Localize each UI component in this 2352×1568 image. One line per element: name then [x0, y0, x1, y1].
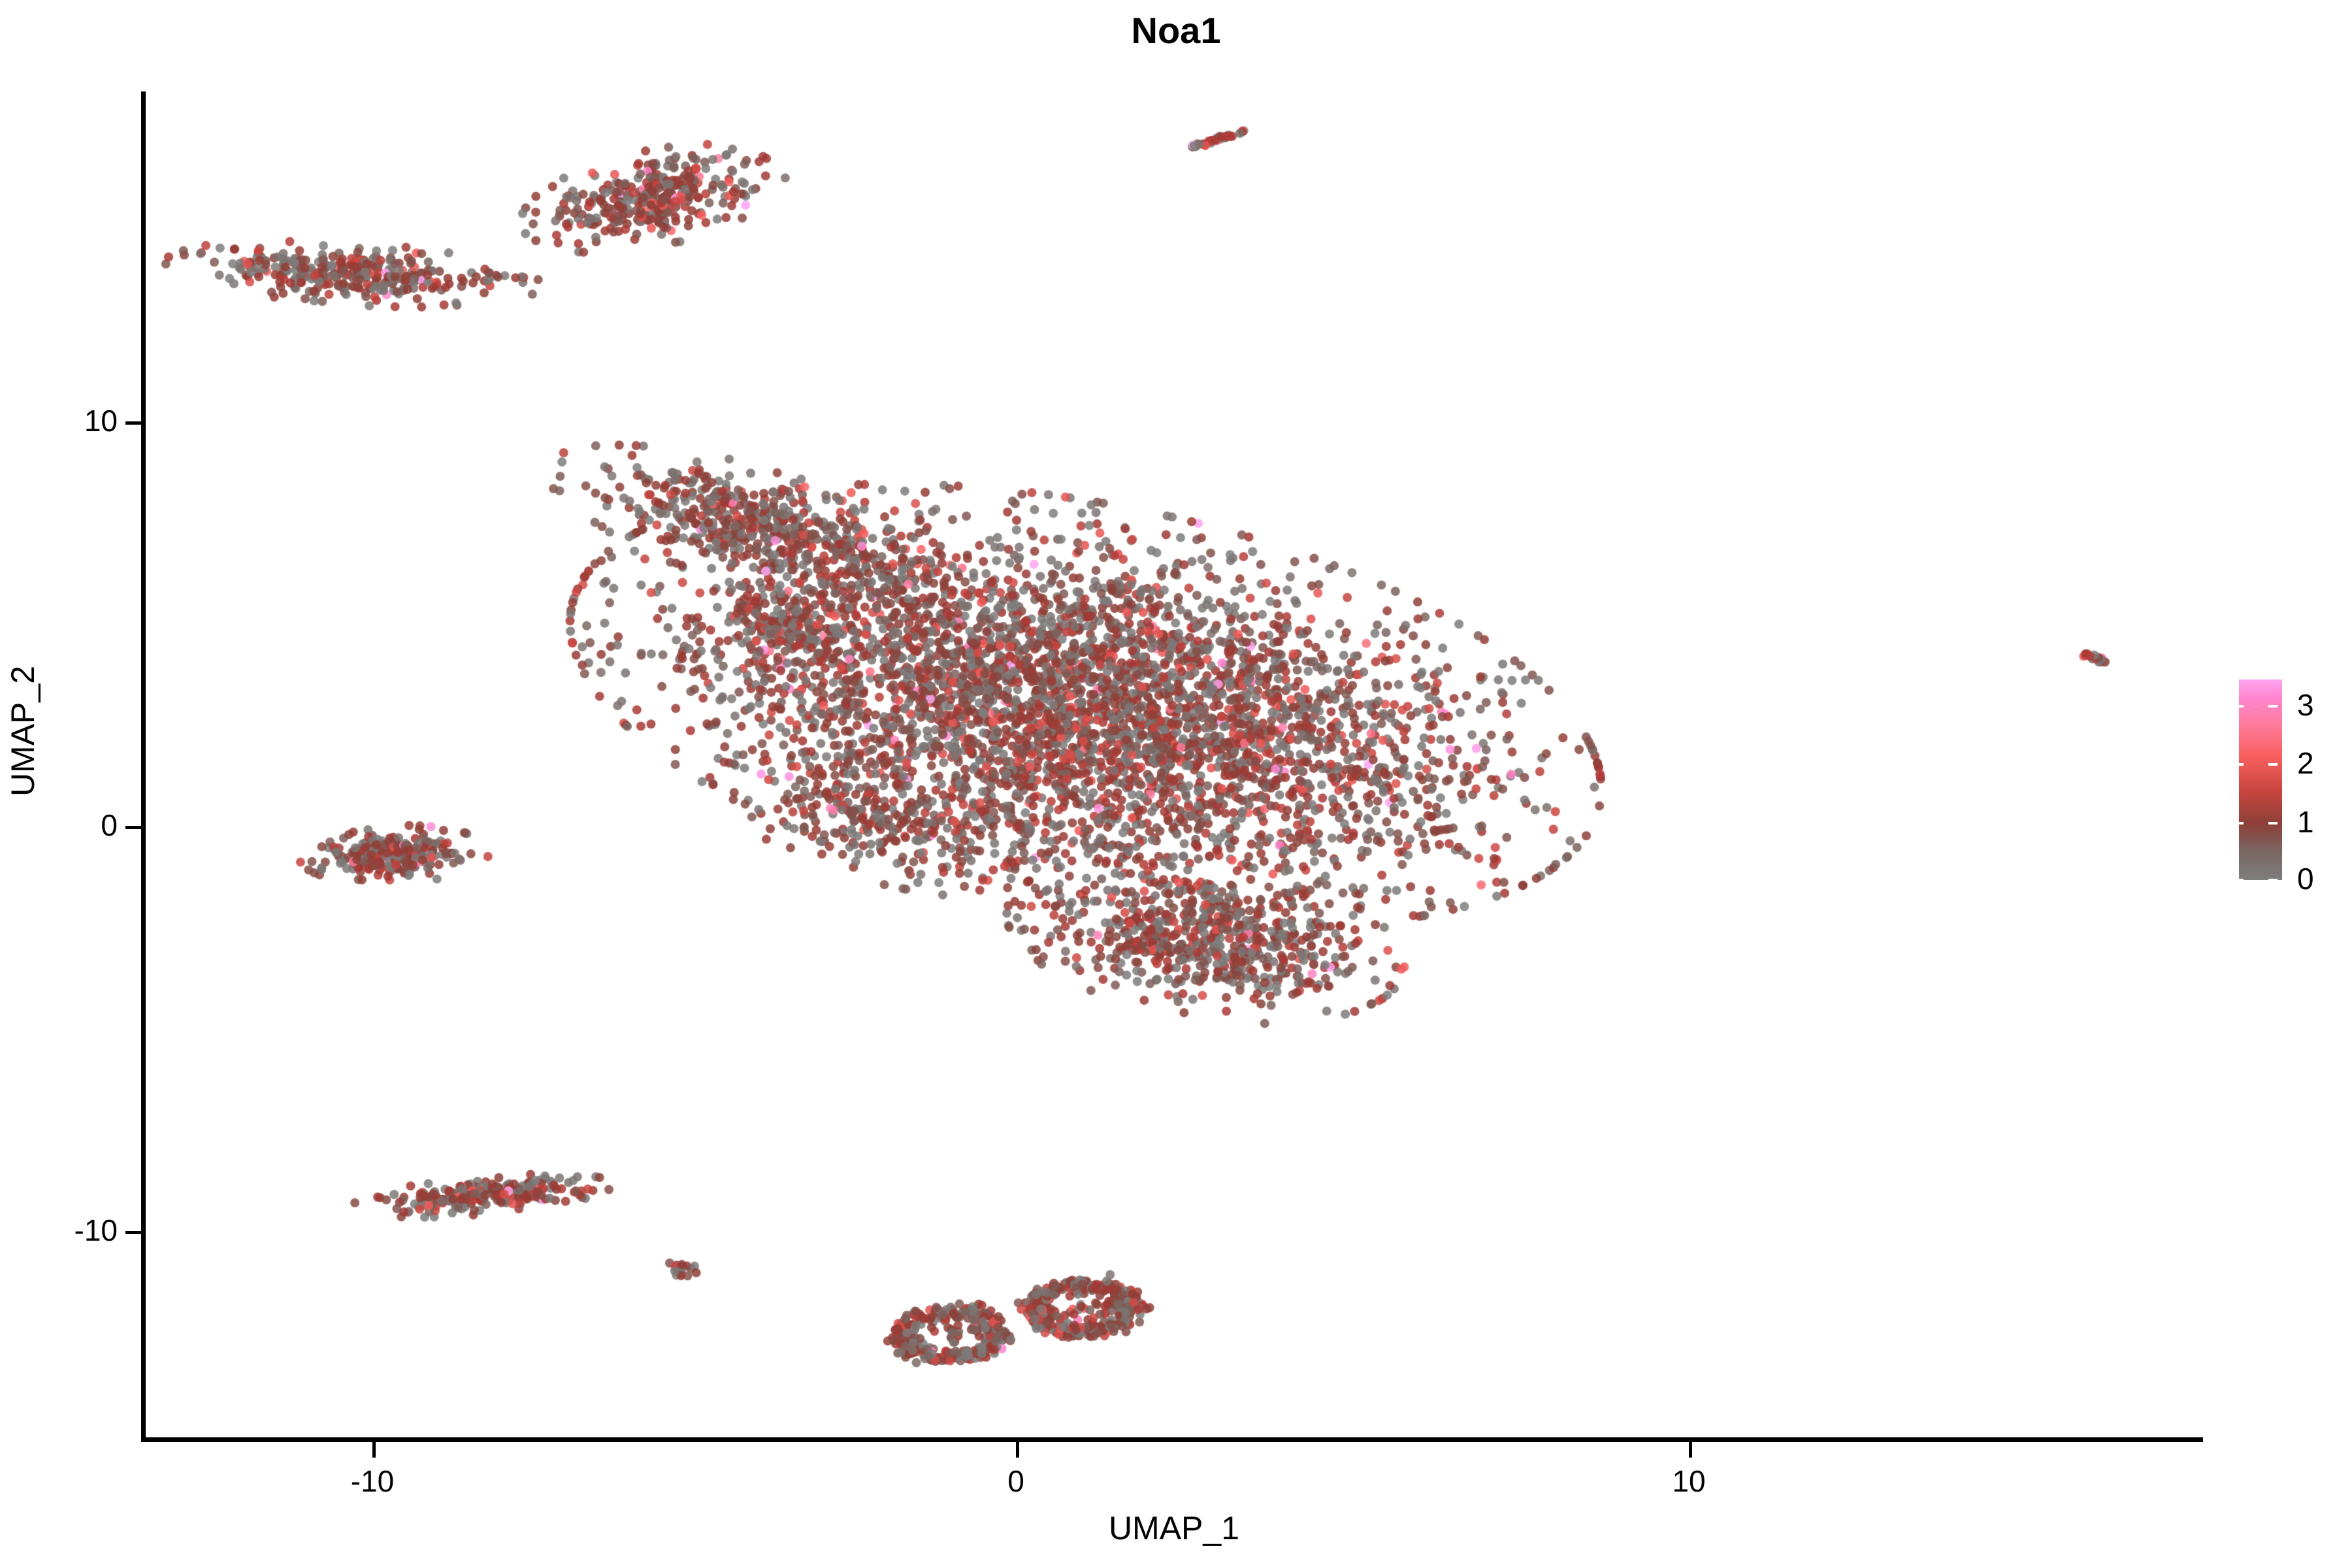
x-tick-mark-0 — [1016, 1442, 1019, 1458]
y-tick-label-neg10: -10 — [0, 1213, 118, 1248]
x-tick-mark-10 — [1689, 1442, 1692, 1458]
y-tick-label-10: 10 — [0, 403, 118, 438]
colorbar-tick-2-left — [2234, 763, 2244, 766]
legend-colorbar: 3 2 1 0 — [2234, 679, 2352, 889]
colorbar-tick-3-right — [2268, 705, 2278, 708]
x-tick-mark-neg10 — [372, 1442, 376, 1458]
y-tick-mark-10 — [125, 421, 141, 425]
x-tick-label-10: 10 — [1624, 1463, 1754, 1499]
y-axis-line — [141, 91, 146, 1442]
colorbar-label-2: 2 — [2297, 748, 2314, 778]
colorbar-label-3: 3 — [2297, 690, 2314, 720]
y-tick-mark-0 — [125, 826, 141, 829]
colorbar-tick-1-right — [2268, 822, 2278, 825]
page-title: Noa1 — [0, 9, 2352, 52]
plot-panel — [145, 91, 2203, 1439]
colorbar-tick-3-left — [2234, 705, 2244, 708]
scatter-plot-canvas — [145, 91, 2203, 1439]
umap-feature-plot: Noa1 -10 0 10 10 0 -10 UMAP_1 UMAP_2 3 2… — [0, 0, 2352, 1568]
colorbar-tick-0-right — [2268, 879, 2278, 881]
colorbar-gradient — [2239, 679, 2282, 880]
colorbar-label-1: 1 — [2297, 807, 2314, 837]
y-axis-title: UMAP_2 — [4, 535, 42, 927]
x-tick-label-neg10: -10 — [307, 1463, 438, 1499]
x-tick-label-0: 0 — [951, 1463, 1081, 1499]
y-tick-mark-neg10 — [125, 1231, 141, 1234]
colorbar-tick-0-left — [2234, 879, 2244, 881]
x-axis-line — [141, 1437, 2203, 1442]
colorbar-tick-1-left — [2234, 822, 2244, 825]
colorbar-tick-2-right — [2268, 763, 2278, 766]
colorbar-label-0: 0 — [2297, 864, 2314, 894]
x-axis-title: UMAP_1 — [145, 1509, 2203, 1547]
